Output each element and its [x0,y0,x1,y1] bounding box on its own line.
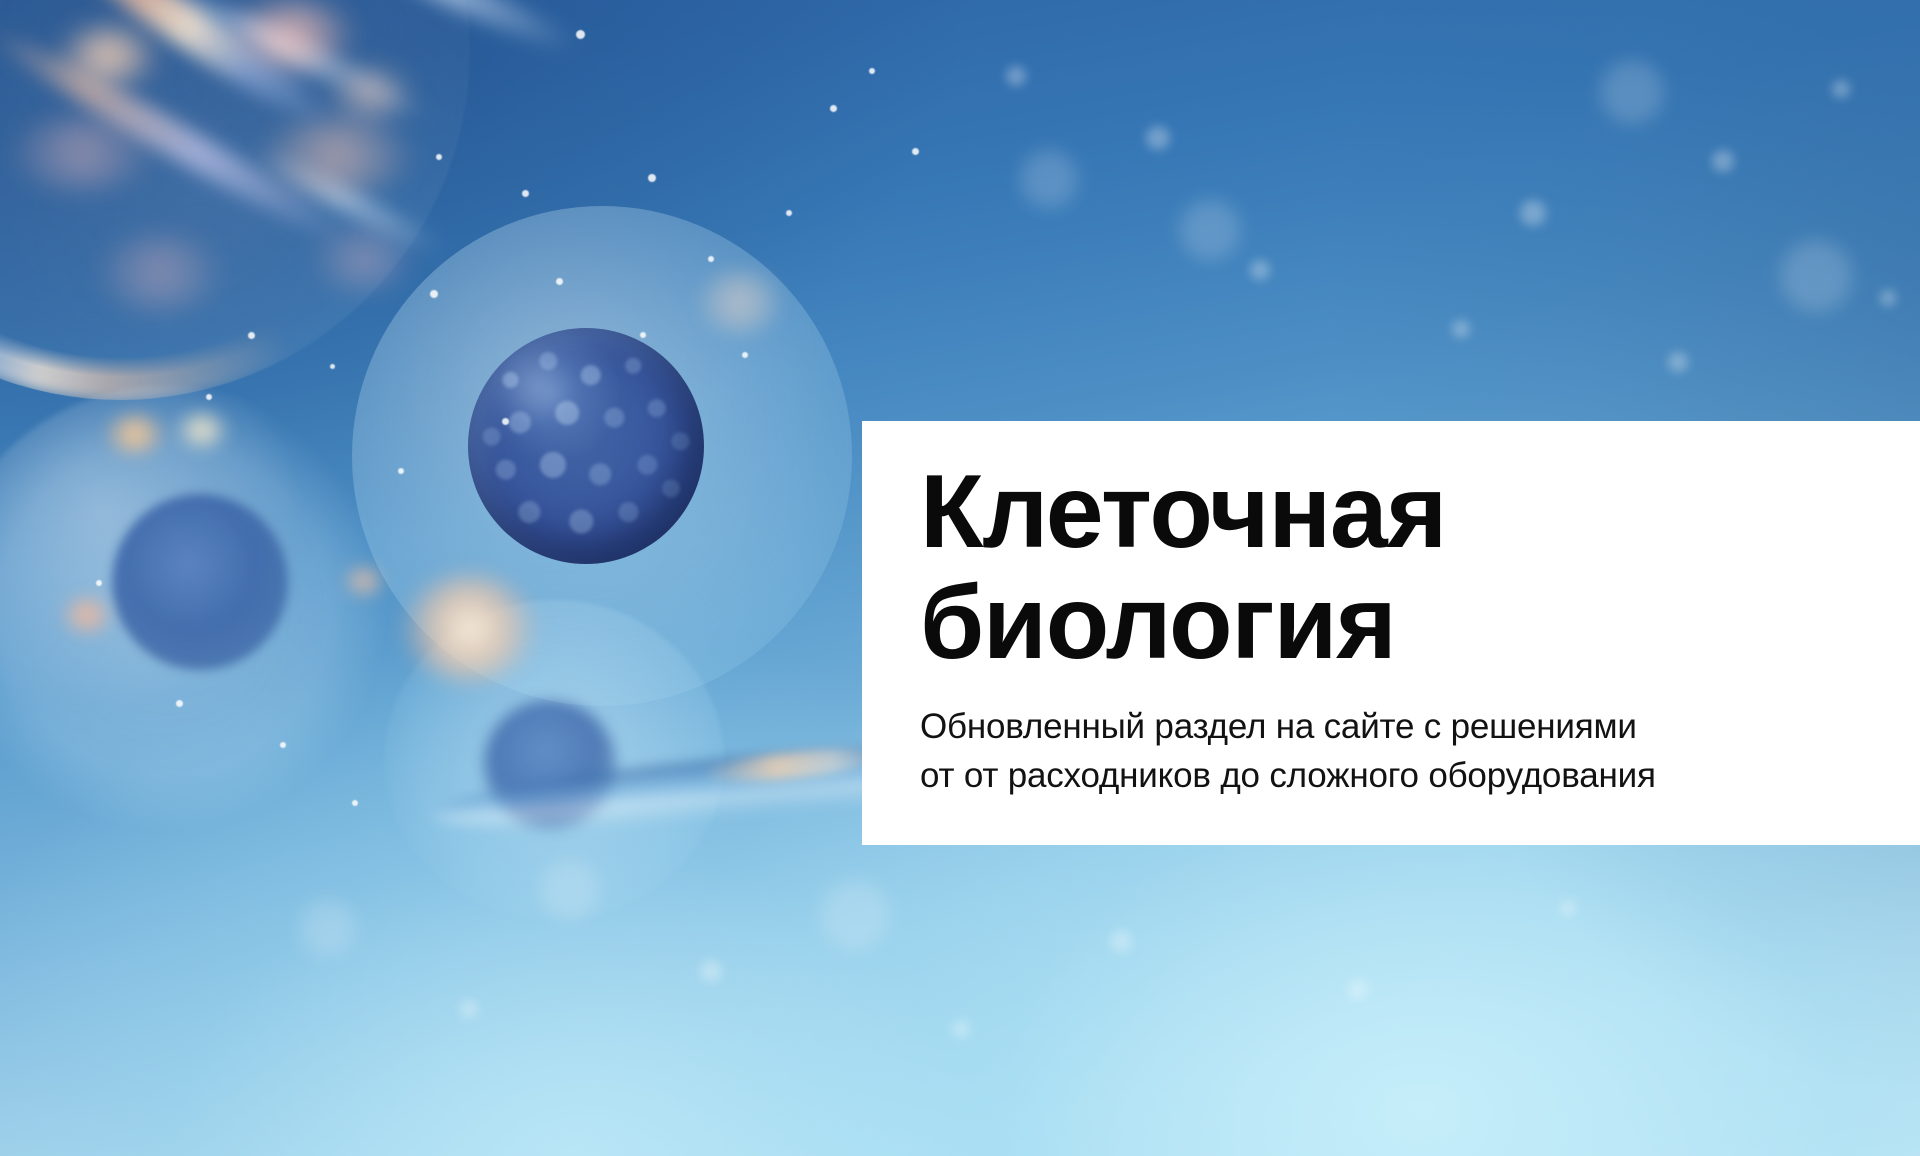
particle [1880,290,1896,306]
headline-line-2: биология [920,568,1876,679]
particle [436,154,442,160]
bokeh [1600,60,1664,124]
particle [1452,320,1470,338]
particle [330,364,335,369]
particle [700,960,722,982]
subtitle-line-2: от от расходников до сложного оборудован… [920,751,1876,800]
particle [912,148,919,155]
particle [1520,200,1546,226]
nucleus-specular-highlight [494,352,580,422]
particle [1348,980,1368,1000]
warm-bokeh [262,120,412,192]
subtitle-line-1: Обновленный раздел на сайте с решениями [920,702,1876,751]
particle [640,332,646,338]
particle [1250,260,1270,280]
membrane-flare [404,574,534,682]
particle [1560,900,1576,916]
membrane-flare [106,414,164,454]
particle [96,580,102,586]
membrane-flare [344,566,384,596]
bokeh [300,900,356,956]
bokeh [1180,200,1240,260]
particle [398,468,404,474]
text-panel: Клеточная биология Обновленный раздел на… [862,421,1920,845]
page-title: Клеточная биология [920,457,1876,680]
particle [648,174,656,182]
warm-bokeh [330,70,410,118]
particle [1712,150,1734,172]
particle [522,190,529,197]
particle [786,210,792,216]
bokeh [540,860,600,920]
particle [430,290,438,298]
warm-bokeh [316,230,412,290]
particle [1110,930,1132,952]
particle [460,1000,478,1018]
particle [352,800,358,806]
particle [830,105,837,112]
cell-left-nucleus [112,494,288,670]
particle [952,1020,970,1038]
warm-bokeh [12,118,152,188]
particle [708,256,714,262]
warm-bokeh [232,2,352,68]
bokeh [1780,240,1852,312]
particle [742,352,748,358]
particle [1832,80,1850,98]
particle [556,278,563,285]
particle [502,418,509,425]
particle [576,30,585,39]
bokeh [820,880,890,950]
particle [206,394,212,400]
slide-canvas: Клеточная биология Обновленный раздел на… [0,0,1920,1156]
particle [280,742,286,748]
page-subtitle: Обновленный раздел на сайте с решениями … [920,702,1876,800]
warm-bokeh [100,236,220,310]
particle [1668,352,1688,372]
particle [1146,126,1170,150]
membrane-flare [62,596,112,634]
membrane-flare [700,270,780,334]
headline-line-1: Клеточная [920,457,1876,568]
particle [176,700,183,707]
particle [869,68,875,74]
particle [1006,66,1026,86]
warm-bokeh [60,28,156,84]
particle [248,332,255,339]
membrane-flare [176,412,228,448]
bokeh [1020,150,1078,208]
